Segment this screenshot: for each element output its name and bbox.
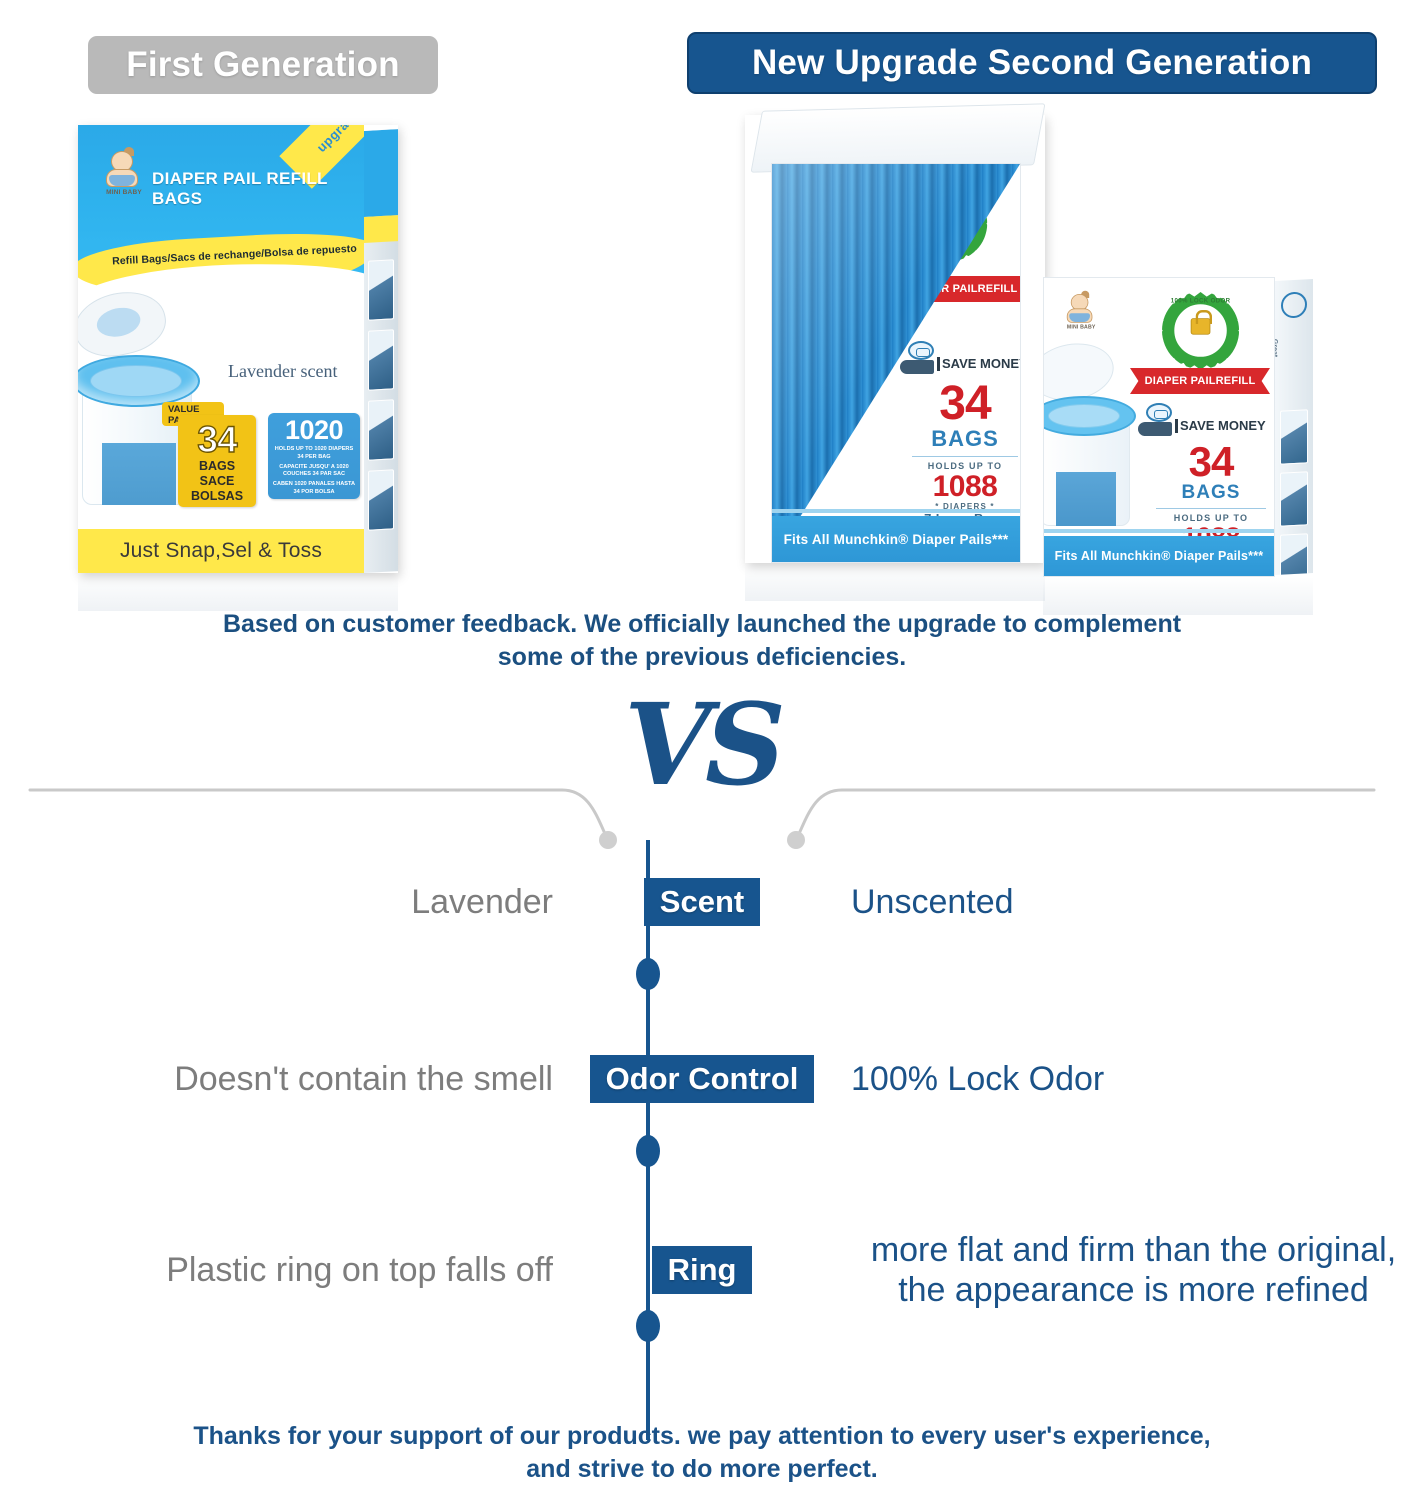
bag-word: SACE xyxy=(178,474,256,489)
header-badge-second-generation: New Upgrade Second Generation xyxy=(687,32,1377,94)
bag-count-words: BAGS SACE BOLSAS xyxy=(178,459,256,504)
pail-bag-strip xyxy=(1056,472,1116,526)
comparison-row: Plastic ring on top falls off Ring more … xyxy=(0,1230,1404,1310)
side-blue-band xyxy=(364,129,398,217)
bag-count-label: BAGS xyxy=(912,426,1018,452)
spine-dot xyxy=(636,1135,660,1167)
side-usage-photo xyxy=(1280,409,1308,464)
mini-baby-logo: MINI BABY xyxy=(1062,294,1102,332)
brand-label: MINI BABY xyxy=(1060,324,1102,330)
side-usage-photo xyxy=(368,259,394,320)
capacity-number: 1088 xyxy=(912,471,1018,502)
side-seal-icon xyxy=(1281,291,1307,318)
box-first-tagline-band: Just Snap,Sel & Toss xyxy=(78,529,364,573)
side-usage-photo xyxy=(1280,533,1308,575)
comparison-row: Lavender Scent Unscented xyxy=(0,878,1404,926)
capacity-line: HOLDS UP TO 1020 DIAPERS 34 PER BAG xyxy=(272,446,356,461)
box-first-front-panel: upgrade MINI BABY DIAPER PAIL REFILL BAG… xyxy=(78,125,364,573)
bag-count-number: 34 xyxy=(912,382,1018,426)
side-value-pack-label: Great value Pack! xyxy=(1275,339,1279,370)
product-box-second-generation-open: DIAPER PAILREFILL SAVE MONEY 34 BAGS HOL… xyxy=(745,115,1045,563)
pail-open-lid xyxy=(78,284,171,364)
box-closed-front-panel: MINI BABY 100% LOCK ODOR DIAPER PAILREFI… xyxy=(1043,277,1275,577)
coin-icon xyxy=(908,341,934,360)
caption-line-1: Based on customer feedback. We officiall… xyxy=(0,608,1404,641)
fits-munchkin-label: Fits All Munchkin® Diaper Pails*** xyxy=(1055,549,1264,563)
row-label-chip: Ring xyxy=(652,1246,753,1294)
baby-diaper xyxy=(1069,313,1090,322)
baby-diaper xyxy=(109,175,135,186)
row-label-chip-wrap: Scent xyxy=(575,878,829,926)
save-money-label: SAVE MONEY xyxy=(1180,418,1266,433)
pail-rim-inner xyxy=(1048,404,1120,428)
footer-line-1: Thanks for your support of our products.… xyxy=(0,1420,1404,1453)
hand-icon xyxy=(900,360,934,374)
spine-dot xyxy=(636,958,660,990)
footer-message: Thanks for your support of our products.… xyxy=(0,1420,1404,1486)
box-closed-side-panel: Great value Pack! xyxy=(1275,279,1313,575)
divider-rule xyxy=(912,456,1018,457)
bag-count-number: 34 xyxy=(1156,442,1266,482)
box-first-side-panel xyxy=(364,129,398,573)
bag-count-number: 34 xyxy=(178,419,256,461)
comparison-row: Doesn't contain the smell Odor Control 1… xyxy=(0,1055,1404,1103)
row-label-chip-wrap: Odor Control xyxy=(575,1055,829,1103)
row-right-value: 100% Lock Odor xyxy=(829,1059,1404,1099)
box-reflection xyxy=(78,573,398,611)
row-left-value: Lavender xyxy=(0,882,575,922)
side-usage-photo xyxy=(1280,471,1308,526)
capacity-lines: HOLDS UP TO 1020 DIAPERS 34 PER BAG CAPA… xyxy=(268,445,360,497)
pail-bag-strip xyxy=(102,443,176,505)
bag-word: BOLSAS xyxy=(178,489,256,504)
capacity-line: CAPACITE JUSQU' A 1020 COUCHES 34 PAR SA… xyxy=(272,464,356,479)
bag-count-label: BAGS xyxy=(1156,482,1266,504)
side-yellow-band xyxy=(364,215,398,243)
row-right-value: Unscented xyxy=(829,882,1404,922)
coin-icon xyxy=(1146,403,1172,422)
upgrade-caption: Based on customer feedback. We officiall… xyxy=(0,608,1404,674)
footer-line-2: and strive to do more perfect. xyxy=(0,1453,1404,1486)
side-usage-photo xyxy=(368,399,394,460)
save-money-label: SAVE MONEY xyxy=(942,356,1021,371)
bag-count-badge: 34 BAGS SACE BOLSAS xyxy=(178,415,256,507)
fits-munchkin-band: Fits All Munchkin® Diaper Pails*** xyxy=(1044,536,1274,576)
hand-icon xyxy=(1138,422,1172,436)
product-box-second-generation-closed: Great value Pack! MINI BABY 100% LOCK OD… xyxy=(1043,277,1313,577)
diaper-pail-illustration xyxy=(1043,344,1140,529)
lock-odor-seal-icon: 100% LOCK ODOR xyxy=(1162,292,1239,369)
fits-munchkin-label: Fits All Munchkin® Diaper Pails*** xyxy=(784,532,1009,547)
row-label-chip: Odor Control xyxy=(590,1055,815,1103)
side-usage-photo xyxy=(368,469,394,530)
side-usage-photo xyxy=(368,329,394,390)
row-left-value: Plastic ring on top falls off xyxy=(0,1250,575,1290)
capacity-badge: 1020 HOLDS UP TO 1020 DIAPERS 34 PER BAG… xyxy=(268,413,360,499)
box-first-title: DIAPER PAIL REFILL BAGS xyxy=(152,169,362,209)
box-first-tagline: Just Snap,Sel & Toss xyxy=(120,539,322,563)
box-open-front-panel: DIAPER PAILREFILL SAVE MONEY 34 BAGS HOL… xyxy=(771,163,1021,563)
spine-dot xyxy=(636,1310,660,1342)
row-left-value: Doesn't contain the smell xyxy=(0,1059,575,1099)
mini-baby-logo: MINI BABY xyxy=(100,151,150,199)
header-badge-first-generation: First Generation xyxy=(88,36,438,94)
product-image-area: upgrade MINI BABY DIAPER PAIL REFILL BAG… xyxy=(0,105,1404,600)
row-right-value: more flat and firm than the original, th… xyxy=(829,1230,1404,1310)
scent-label: Lavender scent xyxy=(228,361,337,382)
brand-label: MINI BABY xyxy=(98,189,150,196)
capacity-line: CABEN 1020 PANALES HASTA 34 POR BOLSA xyxy=(272,481,356,496)
row-label-chip: Scent xyxy=(644,878,760,926)
diaper-pail-refill-ribbon: DIAPER PAILREFILL xyxy=(1130,368,1270,394)
fits-munchkin-band: Fits All Munchkin® Diaper Pails*** xyxy=(772,516,1020,562)
bag-word: BAGS xyxy=(178,459,256,474)
product-box-first-generation: upgrade MINI BABY DIAPER PAIL REFILL BAG… xyxy=(78,125,398,573)
box-reflection xyxy=(745,563,1045,601)
capacity-number: 1020 xyxy=(268,416,360,445)
caption-line-2: some of the previous deficiencies. xyxy=(0,641,1404,674)
seal-arc-label: 100% LOCK ODOR xyxy=(1162,297,1239,304)
divider-rule xyxy=(1156,508,1266,509)
vs-label: VS xyxy=(0,690,1404,802)
pail-rim-inner xyxy=(90,365,182,397)
padlock-icon xyxy=(1191,318,1211,334)
row-label-chip-wrap: Ring xyxy=(575,1246,829,1294)
comparison-table: Lavender Scent Unscented Doesn't contain… xyxy=(0,840,1404,1440)
